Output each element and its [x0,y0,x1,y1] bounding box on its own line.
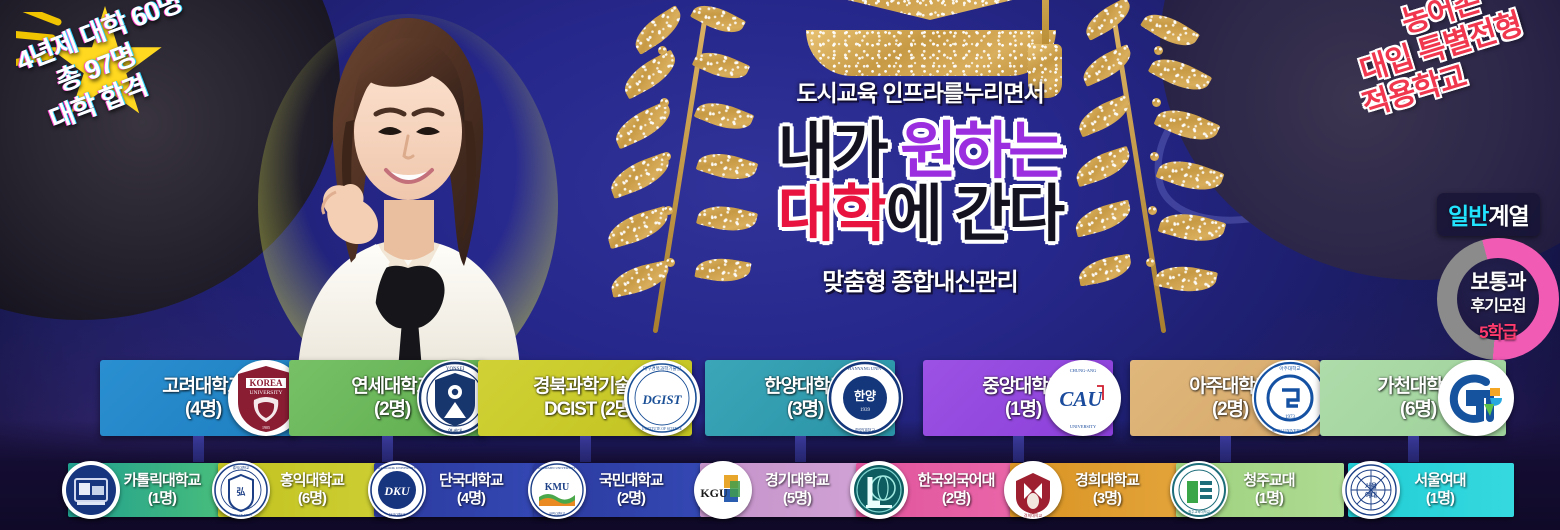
ajou-university-emblem-icon: 1973 아주대학교 AJOU UNIVERSITY [1252,360,1328,436]
university-count: (3명) [1093,490,1121,507]
headline-line1-b: 원하는 [900,117,1062,186]
svg-text:KMU: KMU [545,482,569,493]
headline-line2-c: 간다 [954,180,1062,249]
svg-text:DANKOOK UNIVERSITY: DANKOOK UNIVERSITY [378,466,417,470]
cau-emblem-icon: CAU CHUNG-ANG UNIVERSITY [1045,360,1121,436]
kyunghee-university-emblem-icon: 경희대학교 [1004,461,1062,519]
university-name: 경기대학교 [765,472,829,489]
svg-text:KGU: KGU [700,486,728,500]
university-card-hongik[interactable]: 弘 홍익대학교 HONGIK UNIV 홍익대학교 (6명) [218,463,388,517]
catholic-university-emblem-icon [62,461,120,519]
university-card-seoul-womens[interactable]: 서울 여대 서울여대 (1명) [1348,463,1514,517]
gachon-university-logo-icon [1438,360,1514,436]
dgist-emblem-icon: DGIST 대구경북과학기술원 INSTITUTE OF SCIENCE [624,360,700,436]
svg-text:홍익대학교: 홍익대학교 [233,465,250,470]
plaque-post [382,436,393,462]
university-card-kyunghee[interactable]: 경희대학교 경희대학교 (3명) [1010,463,1186,517]
university-card-dgist[interactable]: 경북과학기술원 DGIST (2명) DGIST 대구경북과학기술원 INSTI… [478,360,692,436]
svg-text:아주대학교: 아주대학교 [1279,365,1300,372]
university-card-cheongju-edu[interactable]: 청주교육대학교 청주교대 (1명) [1176,463,1344,517]
headline-bottom-line: 맞춤형 종합내신관리 [700,262,1140,297]
cheongju-education-emblem-icon: 청주교육대학교 [1170,461,1228,519]
university-card-gachon[interactable]: 가천대학교 (6명) [1320,360,1506,436]
seoul-womens-university-emblem-icon: 서울 여대 [1342,461,1400,519]
svg-text:한양대학교: 한양대학교 [855,427,875,434]
hufs-emblem-icon [850,461,908,519]
university-count: (2명) [617,490,645,507]
svg-text:弘: 弘 [236,487,245,497]
svg-text:KOREA: KOREA [249,378,283,388]
hongik-university-emblem-icon: 弘 홍익대학교 HONGIK UNIV [212,461,270,519]
svg-text:국민대학교: 국민대학교 [549,511,566,516]
svg-text:서울: 서울 [1365,481,1377,490]
track-badge: 일반계열 [1437,193,1540,236]
headline-line2-a: 대학 [778,180,886,249]
university-count: (1명) [1255,490,1283,507]
university-name: 청주교대 [1243,472,1294,489]
headline-main: 내가 원하는 대학에 간다 [700,120,1140,246]
svg-text:여대: 여대 [1365,490,1377,499]
university-count: (2명) [942,490,970,507]
ring-classes: 5학급 [1437,318,1559,343]
svg-text:CHUNG-ANG: CHUNG-ANG [1070,368,1097,373]
university-card-hanyang[interactable]: 한양대학교 (3명) 한양 1939 HANYANG UNIV 한양대학교 [705,360,895,436]
university-card-chungang[interactable]: 중앙대학교 (1명) CAU CHUNG-ANG UNIVERSITY [923,360,1113,436]
plaque-post [1408,436,1419,462]
university-name: 서울여대 [1414,472,1465,489]
kookmin-university-emblem-icon: KMU KOOKMIN UNIVERSITY 국민대학교 [528,461,586,519]
achievement-starburst: 4년제 대학 60명 총 97명 대학 합격 [10,0,280,215]
university-count: (6명) [298,490,326,507]
svg-text:단국대학교: 단국대학교 [389,512,406,517]
university-name: 경희대학교 [1075,472,1139,489]
svg-text:INSTITUTE OF SCIENCE: INSTITUTE OF SCIENCE [642,427,683,431]
svg-text:HONGIK UNIV: HONGIK UNIV [230,513,253,517]
svg-text:한양: 한양 [854,388,876,403]
track-badge-highlight: 일반 [1448,203,1488,229]
headline-line1-a: 내가 [778,117,886,186]
svg-text:HANYANG UNIV: HANYANG UNIV [848,366,883,371]
hanyang-university-emblem-icon: 한양 1939 HANYANG UNIV 한양대학교 [827,360,903,436]
headline-block: 도시교육 인프라를누리면서 내가 원하는 대학에 간다 맞춤형 종합내신관리 [700,74,1140,297]
university-count: (4명) [457,490,485,507]
headline-line2-b: 에 [886,180,940,249]
university-count: (1명) [148,490,176,507]
university-card-ajou[interactable]: 아주대학교 (2명) 1973 아주대학교 AJOU UNIVERSITY [1130,360,1320,436]
svg-text:1939: 1939 [860,408,871,413]
svg-text:AJOU UNIVERSITY: AJOU UNIVERSITY [1272,428,1309,433]
university-count: (5명) [783,490,811,507]
plaque-post [1013,436,1024,462]
department-ring-badge: 보통과 후기모집 5학급 [1437,238,1559,360]
ring-subtitle: 후기모집 [1437,292,1559,316]
svg-text:연세대: 연세대 [448,428,462,435]
student-model-photo [258,4,558,370]
svg-text:UNIVERSITY: UNIVERSITY [250,390,283,396]
university-name: 단국대학교 [439,472,503,489]
university-card-kookmin[interactable]: KMU KOOKMIN UNIVERSITY 국민대학교 국민대학교 (2명) [534,463,710,517]
svg-text:CAU: CAU [1059,387,1104,411]
dankook-university-emblem-icon: DKU DANKOOK UNIVERSITY 단국대학교 [368,461,426,519]
svg-text:KOOKMIN UNIVERSITY: KOOKMIN UNIVERSITY [538,466,576,470]
svg-text:DKU: DKU [383,484,411,498]
svg-text:1905: 1905 [262,425,270,430]
svg-text:1973: 1973 [1285,415,1296,420]
svg-text:대구경북과학기술원: 대구경북과학기술원 [643,365,681,372]
svg-text:청주교육대학교: 청주교육대학교 [1188,509,1210,514]
university-count: (1명) [1426,490,1454,507]
university-name: 한국외국어대 [918,472,995,489]
plaque-post [193,436,204,462]
track-badge-rest: 계열 [1488,203,1528,229]
plaque-post [580,436,591,462]
svg-text:UNIVERSITY: UNIVERSITY [1070,424,1097,429]
university-name: 카톨릭대학교 [124,472,201,489]
svg-text:경희대학교: 경희대학교 [1024,512,1043,518]
plaque-post [795,436,806,462]
svg-text:YONSEI: YONSEI [446,367,465,372]
kyonggi-university-logo-icon: KGU [694,461,752,519]
university-card-korea[interactable]: 고려대학교 (4명) KOREA UNIVERSITY 1905 [100,360,296,436]
plaque-post [1220,436,1231,462]
university-name: 홍익대학교 [280,472,344,489]
university-name: 국민대학교 [599,472,663,489]
promotional-banner: 4년제 대학 60명 총 97명 대학 합격 [0,0,1560,530]
headline-top-line: 도시교육 인프라를누리면서 [700,74,1140,108]
svg-text:DGIST: DGIST [641,392,682,407]
university-card-dankook[interactable]: DKU DANKOOK UNIVERSITY 단국대학교 단국대학교 (4명) [374,463,550,517]
university-card-yonsei[interactable]: 연세대학교 (2명) YONSEI 연세대 [289,360,485,436]
graduation-cap-icon [760,0,1100,84]
